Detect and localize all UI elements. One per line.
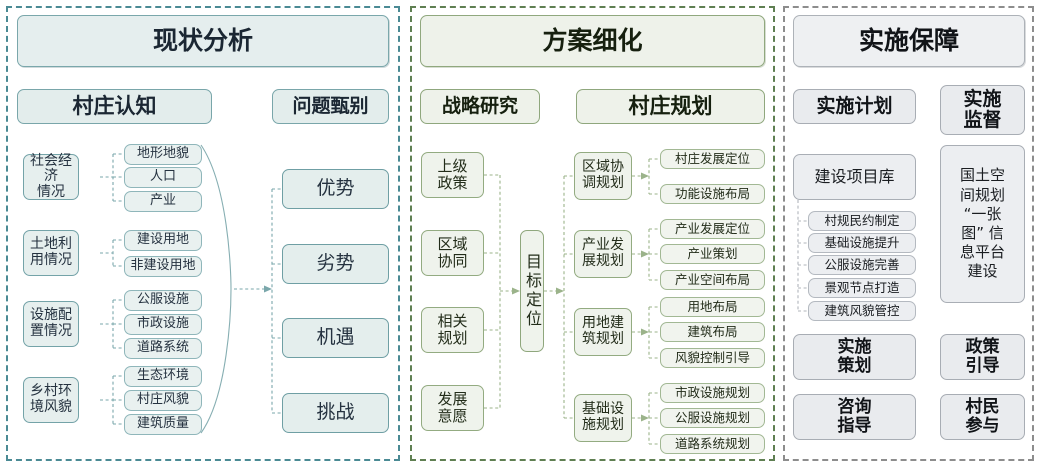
leaf-municipal-facility-planning[interactable]: 市政设施规划 [660,383,765,403]
panel-title-implementation-guarantee: 实施保障 [793,15,1025,67]
leaf-industry-development-positioning[interactable]: 产业发展定位 [660,219,765,239]
leaf-industry-spatial-layout[interactable]: 产业空间布局 [660,270,765,290]
node-villager-participation[interactable]: 村民 参与 [940,394,1025,440]
swot-opportunity[interactable]: 机遇 [282,318,389,358]
panel-title-scheme-refinement: 方案细化 [420,15,765,67]
category-rural-landscape[interactable]: 乡村环 境风貌 [23,377,79,423]
swot-strength[interactable]: 优势 [282,169,389,209]
branch-land-building[interactable]: 用地建 筑规划 [574,308,632,356]
leaf-building-quality[interactable]: 建筑质量 [124,414,202,435]
leaf-public-service-facility-planning[interactable]: 公服设施规划 [660,408,765,428]
leaf-building-layout[interactable]: 建筑布局 [660,322,765,342]
node-spatial-planning-platform[interactable]: 国土空 间规划 “一张 图” 信 息平台 建设 [940,145,1025,303]
section-strategy-research[interactable]: 战略研究 [420,89,540,124]
category-land-use[interactable]: 土地利 用情况 [23,230,79,276]
leaf-functional-facility-layout[interactable]: 功能设施布局 [660,184,765,204]
category-facility-allocation[interactable]: 设施配 置情况 [23,301,79,347]
section-implementation-supervision[interactable]: 实施 监督 [940,85,1025,135]
leaf-infrastructure-upgrade[interactable]: 基础设施提升 [808,233,916,253]
input-regional-synergy[interactable]: 区域 协同 [421,230,484,276]
section-village-planning[interactable]: 村庄规划 [576,89,765,124]
leaf-public-service-facility[interactable]: 公服设施 [124,290,202,311]
goal-positioning[interactable]: 目标定位 [520,230,544,352]
leaf-municipal-facility[interactable]: 市政设施 [124,314,202,335]
node-construction-project-library[interactable]: 建设项目库 [793,154,916,200]
leaf-landscape-node-creation[interactable]: 景观节点打造 [808,278,916,298]
leaf-village-appearance[interactable]: 村庄风貌 [124,390,202,411]
input-development-will[interactable]: 发展 意愿 [421,385,484,431]
category-socio-economic[interactable]: 社会经济 情况 [23,154,79,200]
leaf-construction-land[interactable]: 建设用地 [124,230,202,251]
leaf-road-system-planning[interactable]: 道路系统规划 [660,434,765,454]
node-implementation-strategy[interactable]: 实施 策划 [793,334,916,380]
branch-industry-development[interactable]: 产业发 展规划 [574,230,632,278]
swot-weakness[interactable]: 劣势 [282,244,389,284]
section-village-cognition[interactable]: 村庄认知 [17,89,212,124]
branch-regional-coordination[interactable]: 区域协 调规划 [574,152,632,200]
leaf-industry-planning[interactable]: 产业策划 [660,244,765,264]
section-implementation-plan[interactable]: 实施计划 [793,89,916,124]
node-consulting-guidance[interactable]: 咨询 指导 [793,394,916,440]
node-policy-guidance[interactable]: 政策 引导 [940,334,1025,380]
branch-infrastructure[interactable]: 基础设 施规划 [574,394,632,442]
leaf-road-system[interactable]: 道路系统 [124,338,202,359]
input-superior-policy[interactable]: 上级 政策 [421,152,484,198]
leaf-appearance-control-guidance[interactable]: 风貌控制引导 [660,348,765,368]
leaf-terrain[interactable]: 地形地貌 [124,144,202,165]
leaf-land-layout[interactable]: 用地布局 [660,297,765,317]
leaf-ecological-environment[interactable]: 生态环境 [124,366,202,387]
leaf-village-regulations[interactable]: 村规民约制定 [808,211,916,231]
leaf-building-appearance-control[interactable]: 建筑风貌管控 [808,301,916,321]
leaf-industry[interactable]: 产业 [124,191,202,212]
section-problem-screening[interactable]: 问题甄别 [272,89,389,124]
swot-threat[interactable]: 挑战 [282,393,389,433]
leaf-population[interactable]: 人口 [124,167,202,188]
leaf-public-service-improvement[interactable]: 公服设施完善 [808,255,916,275]
leaf-village-development-positioning[interactable]: 村庄发展定位 [660,149,765,169]
input-related-planning[interactable]: 相关 规划 [421,307,484,353]
diagram-canvas: 现状分析 村庄认知 问题甄别 社会经济 情况 土地利 用情况 设施配 置情况 乡… [0,0,1040,467]
panel-title-current-situation: 现状分析 [17,15,389,67]
leaf-non-construction-land[interactable]: 非建设用地 [124,256,202,277]
